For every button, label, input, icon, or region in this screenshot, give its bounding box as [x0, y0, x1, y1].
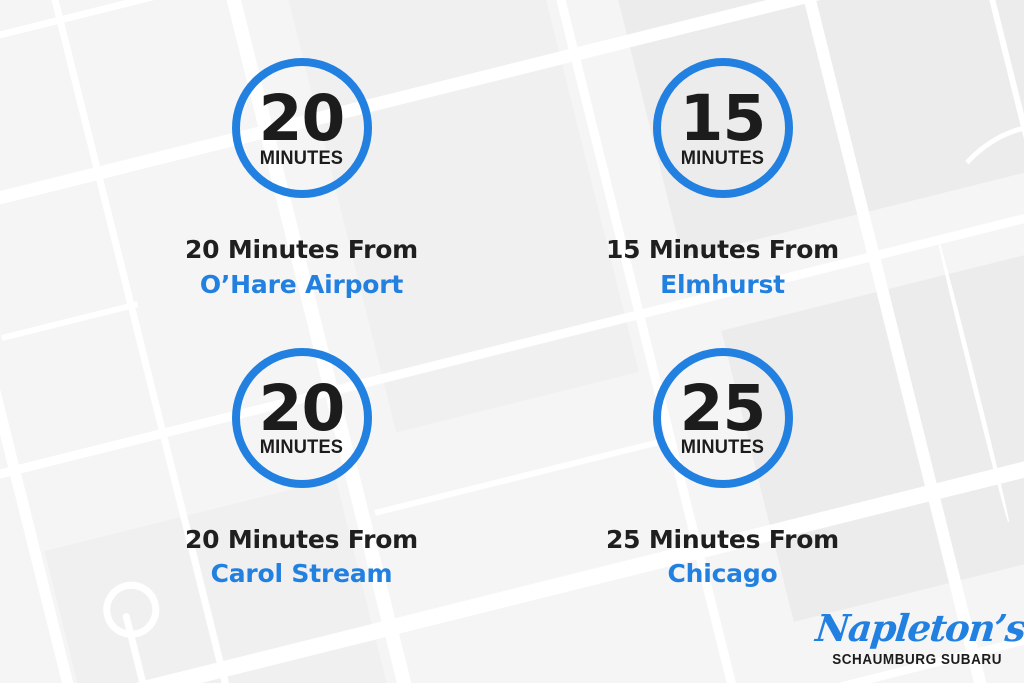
- caption-location: O’Hare Airport: [185, 270, 418, 300]
- caption-primary: 20 Minutes From: [185, 525, 418, 555]
- logo-script-name: Napleton’s: [814, 610, 1004, 647]
- minutes-badge: 25 MINUTES: [653, 348, 793, 488]
- tile-chicago: 25 MINUTES 25 Minutes From Chicago: [517, 348, 928, 638]
- minutes-badge: 20 MINUTES: [232, 58, 372, 198]
- caption-location: Carol Stream: [185, 559, 418, 589]
- badge-number: 20: [259, 380, 345, 438]
- minutes-badge: 15 MINUTES: [653, 58, 793, 198]
- badge-number: 25: [680, 380, 766, 438]
- tile-elmhurst: 15 MINUTES 15 Minutes From Elmhurst: [517, 58, 928, 348]
- caption-primary: 25 Minutes From: [606, 525, 839, 555]
- caption-location: Chicago: [606, 559, 839, 589]
- badge-unit-label: MINUTES: [681, 149, 764, 168]
- tile-caption: 20 Minutes From O’Hare Airport: [185, 235, 418, 299]
- caption-location: Elmhurst: [606, 270, 839, 300]
- tile-caption: 15 Minutes From Elmhurst: [606, 235, 839, 299]
- caption-primary: 20 Minutes From: [185, 235, 418, 265]
- dealer-logo: Napleton’s SCHAUMBURG SUBARU: [816, 610, 1002, 668]
- caption-primary: 15 Minutes From: [606, 235, 839, 265]
- tile-caption: 25 Minutes From Chicago: [606, 525, 839, 589]
- badge-number: 20: [259, 90, 345, 148]
- promo-graphic: 20 MINUTES 20 Minutes From O’Hare Airpor…: [0, 0, 1024, 683]
- badge-unit-label: MINUTES: [260, 149, 343, 168]
- tile-carol-stream: 20 MINUTES 20 Minutes From Carol Stream: [96, 348, 507, 638]
- distance-tiles-grid: 20 MINUTES 20 Minutes From O’Hare Airpor…: [0, 0, 1024, 683]
- logo-subtitle: SCHAUMBURG SUBARU: [829, 653, 1002, 668]
- badge-unit-label: MINUTES: [681, 438, 764, 457]
- tile-caption: 20 Minutes From Carol Stream: [185, 525, 418, 589]
- minutes-badge: 20 MINUTES: [232, 348, 372, 488]
- tile-ohare-airport: 20 MINUTES 20 Minutes From O’Hare Airpor…: [96, 58, 507, 348]
- badge-unit-label: MINUTES: [260, 438, 343, 457]
- badge-number: 15: [680, 90, 766, 148]
